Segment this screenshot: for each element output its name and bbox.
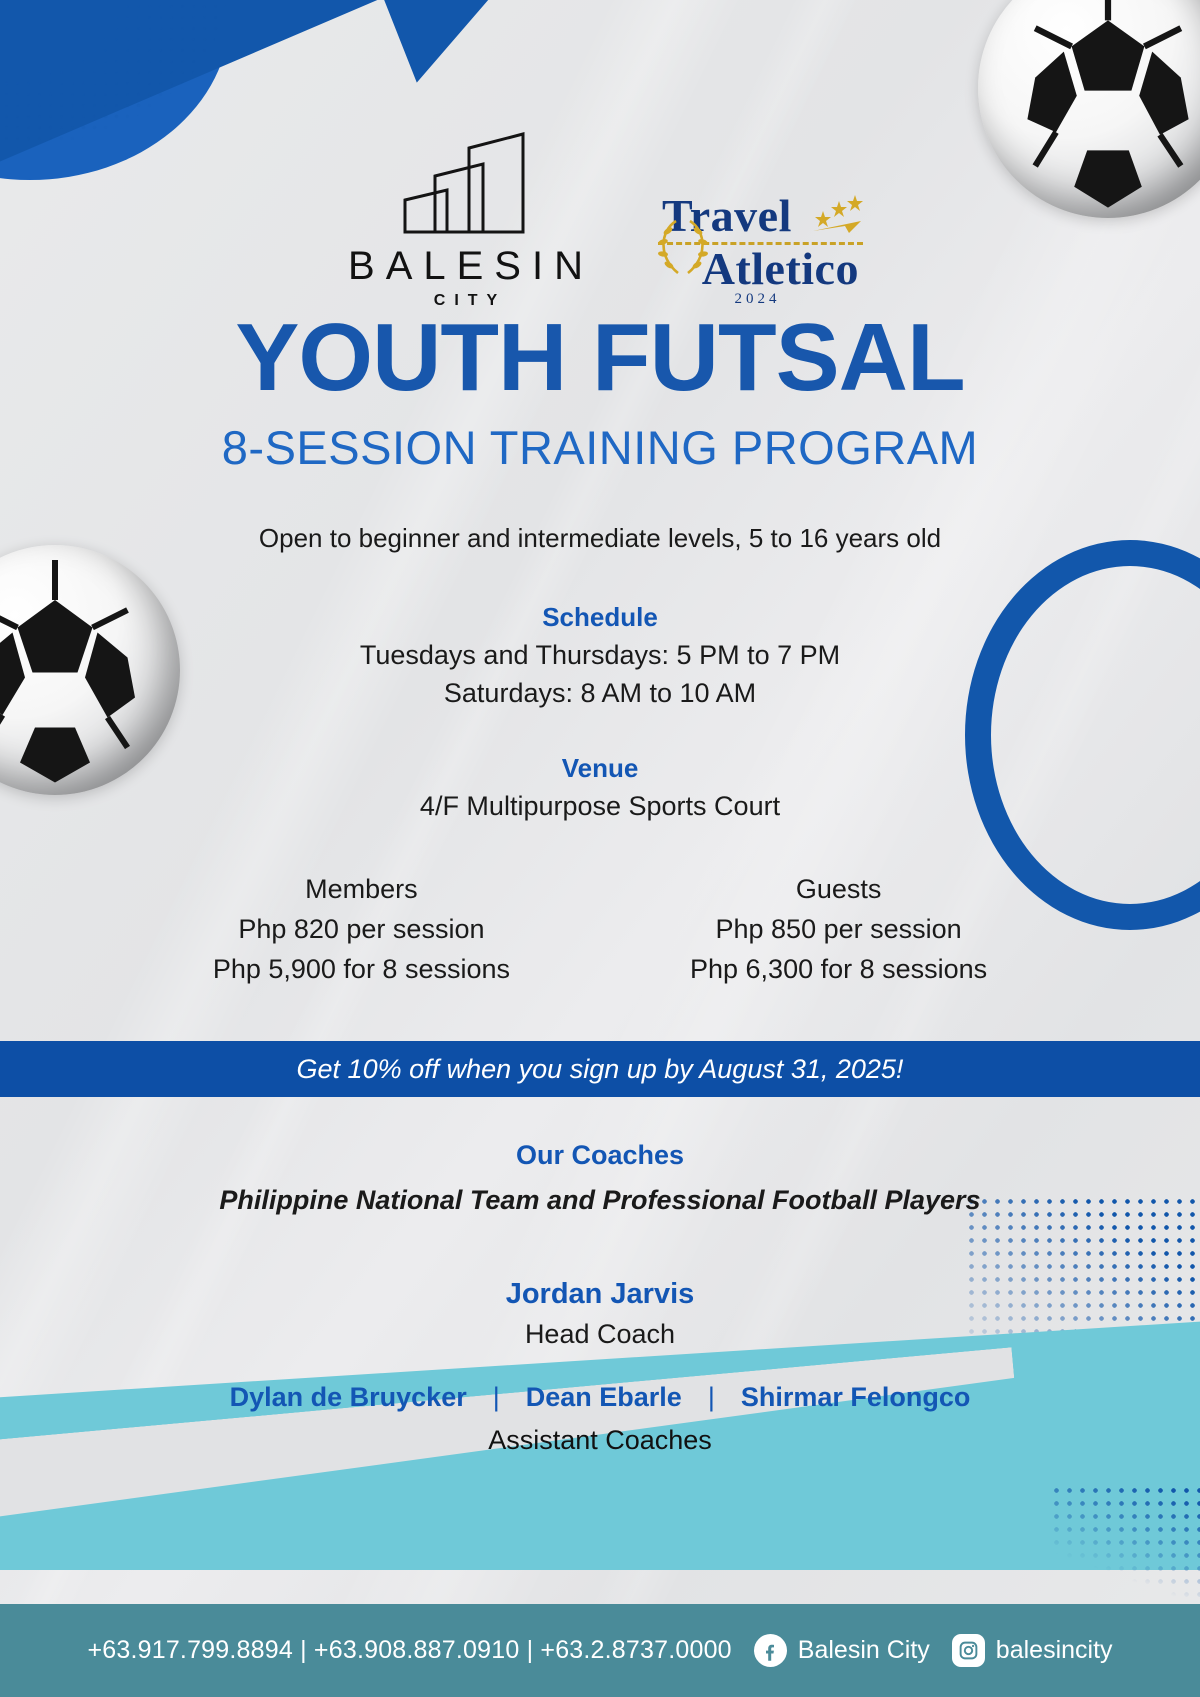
assistant-coaches-names: Dylan de Bruycker | Dean Ebarle | Shirma… xyxy=(0,1382,1200,1413)
footer-dot-pattern xyxy=(1050,1484,1200,1604)
assistant-coaches-role: Assistant Coaches xyxy=(0,1425,1200,1456)
pricing-audience: Guests xyxy=(690,874,987,905)
pricing-column-members: Members Php 820 per session Php 5,900 fo… xyxy=(213,874,510,985)
promo-text: Get 10% off when you sign up by August 3… xyxy=(297,1054,904,1085)
instagram-link[interactable]: balesincity xyxy=(952,1634,1113,1667)
instagram-icon[interactable] xyxy=(952,1634,985,1667)
assistant-coach-name: Shirmar Felongco xyxy=(741,1382,971,1413)
schedule-heading: Schedule xyxy=(0,602,1200,633)
schedule-line-2: Saturdays: 8 AM to 10 AM xyxy=(0,678,1200,709)
coaches-section: Our Coaches Philippine National Team and… xyxy=(0,1140,1200,1350)
name-separator: | xyxy=(708,1382,715,1413)
eligibility-text: Open to beginner and intermediate levels… xyxy=(0,523,1200,554)
contact-footer: +63.917.799.8894 | +63.908.887.0910 | +6… xyxy=(0,1604,1200,1697)
coaches-subheading: Philippine National Team and Professiona… xyxy=(0,1185,1200,1216)
pricing-audience: Members xyxy=(213,874,510,905)
pricing-per-session: Php 850 per session xyxy=(690,914,987,945)
promo-banner: Get 10% off when you sign up by August 3… xyxy=(0,1041,1200,1097)
poster-root: BALESIN CITY Travel xyxy=(0,0,1200,1697)
pricing-grid: Members Php 820 per session Php 5,900 fo… xyxy=(0,874,1200,985)
instagram-label: balesincity xyxy=(996,1636,1113,1665)
venue-heading: Venue xyxy=(0,753,1200,784)
pricing-per-session: Php 820 per session xyxy=(213,914,510,945)
page-title: YOUTH FUTSAL xyxy=(0,310,1200,406)
assistant-coach-name: Dylan de Bruycker xyxy=(230,1382,467,1413)
schedule-line-1: Tuesdays and Thursdays: 5 PM to 7 PM xyxy=(0,640,1200,671)
pricing-package: Php 6,300 for 8 sessions xyxy=(690,954,987,985)
venue-line-1: 4/F Multipurpose Sports Court xyxy=(0,791,1200,822)
main-content: YOUTH FUTSAL 8-SESSION TRAINING PROGRAM … xyxy=(0,0,1200,985)
coaches-heading: Our Coaches xyxy=(0,1140,1200,1171)
facebook-icon[interactable] xyxy=(754,1634,787,1667)
assistant-coaches-section: Dylan de Bruycker | Dean Ebarle | Shirma… xyxy=(0,1382,1200,1456)
page-subtitle: 8-SESSION TRAINING PROGRAM xyxy=(0,420,1200,475)
head-coach-name: Jordan Jarvis xyxy=(0,1278,1200,1311)
pricing-column-guests: Guests Php 850 per session Php 6,300 for… xyxy=(690,874,987,985)
phone-numbers: +63.917.799.8894 | +63.908.887.0910 | +6… xyxy=(87,1636,731,1665)
pricing-package: Php 5,900 for 8 sessions xyxy=(213,954,510,985)
facebook-label: Balesin City xyxy=(798,1636,930,1665)
assistant-coach-name: Dean Ebarle xyxy=(526,1382,682,1413)
facebook-link[interactable]: Balesin City xyxy=(754,1634,930,1667)
name-separator: | xyxy=(493,1382,500,1413)
